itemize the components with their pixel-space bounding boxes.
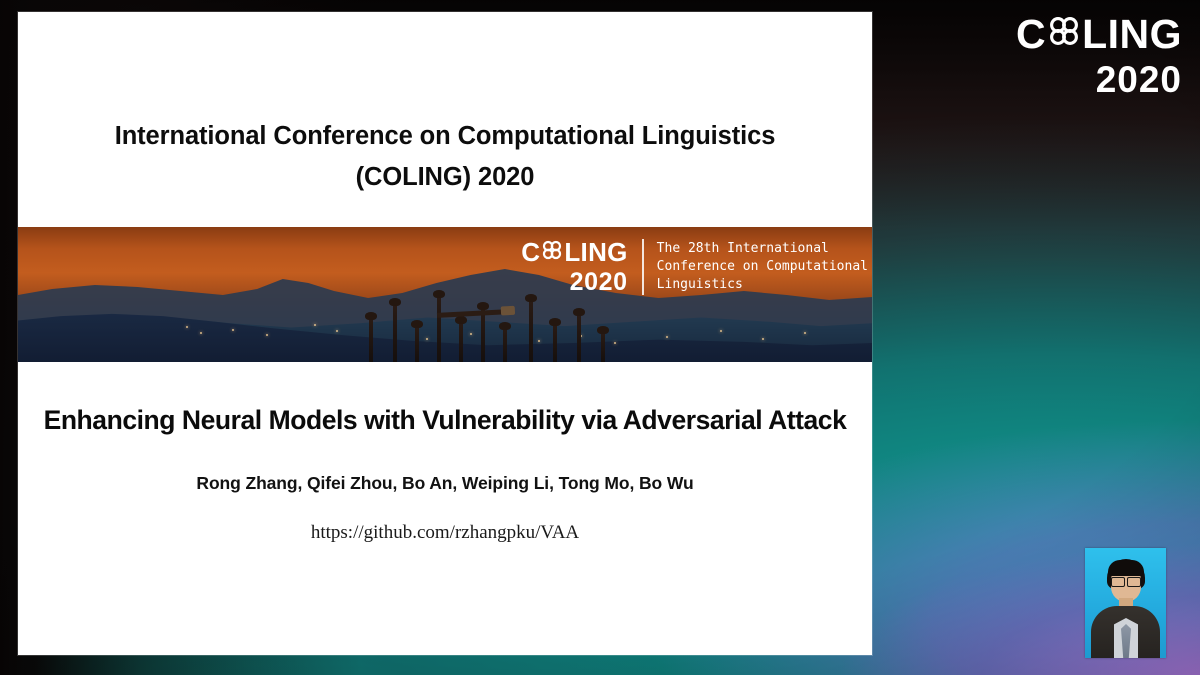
slide-heading-line-2: (COLING) 2020 <box>18 157 872 198</box>
banner-crane-silhouettes <box>363 288 623 362</box>
watermark-brand-suffix: LING <box>1082 14 1182 55</box>
banner-subtitle-line-1: The 28th International <box>657 240 868 258</box>
paper-title: Enhancing Neural Models with Vulnerabili… <box>18 405 872 436</box>
banner-logo-suffix: LING <box>564 239 627 265</box>
paper-authors: Rong Zhang, Qifei Zhou, Bo An, Weiping L… <box>18 473 872 494</box>
coling-watermark-logo: C LING 2020 <box>1016 14 1182 98</box>
presentation-stage: C LING 2020 International Conference on … <box>0 0 1200 675</box>
slide-heading-line-1: International Conference on Computationa… <box>18 116 872 157</box>
banner-logo-brand-line: C LING <box>521 239 627 265</box>
banner-logo-year: 2020 <box>521 270 627 295</box>
coling-loop-icon <box>541 239 563 265</box>
banner-subtitle-line-2: Conference on Computational <box>657 258 868 276</box>
banner-coling-logo: C LING <box>521 239 872 295</box>
slide-heading: International Conference on Computationa… <box>18 12 872 198</box>
banner-logo-divider <box>642 239 644 295</box>
banner-subtitle: The 28th International Conference on Com… <box>657 239 872 294</box>
banner-crane-jib <box>437 309 509 318</box>
portrait-fringe <box>1108 560 1144 576</box>
watermark-year: 2020 <box>1016 61 1182 98</box>
coling-loop-icon <box>1047 14 1081 55</box>
portrait-glasses-icon <box>1111 577 1141 585</box>
banner-logo-wordmark: C LING <box>521 239 641 295</box>
paper-info-block: Enhancing Neural Models with Vulnerabili… <box>18 362 872 544</box>
conference-banner-image: C LING <box>18 227 872 362</box>
slide-canvas: International Conference on Computationa… <box>18 12 872 655</box>
banner-logo-prefix: C <box>521 239 540 265</box>
banner-subtitle-line-3: Linguistics <box>657 276 868 294</box>
speaker-video-thumbnail[interactable] <box>1085 548 1166 658</box>
paper-repository-link[interactable]: https://github.com/rzhangpku/VAA <box>18 522 872 544</box>
watermark-brand-prefix: C <box>1016 14 1046 55</box>
watermark-brand-line: C LING <box>1016 14 1182 55</box>
